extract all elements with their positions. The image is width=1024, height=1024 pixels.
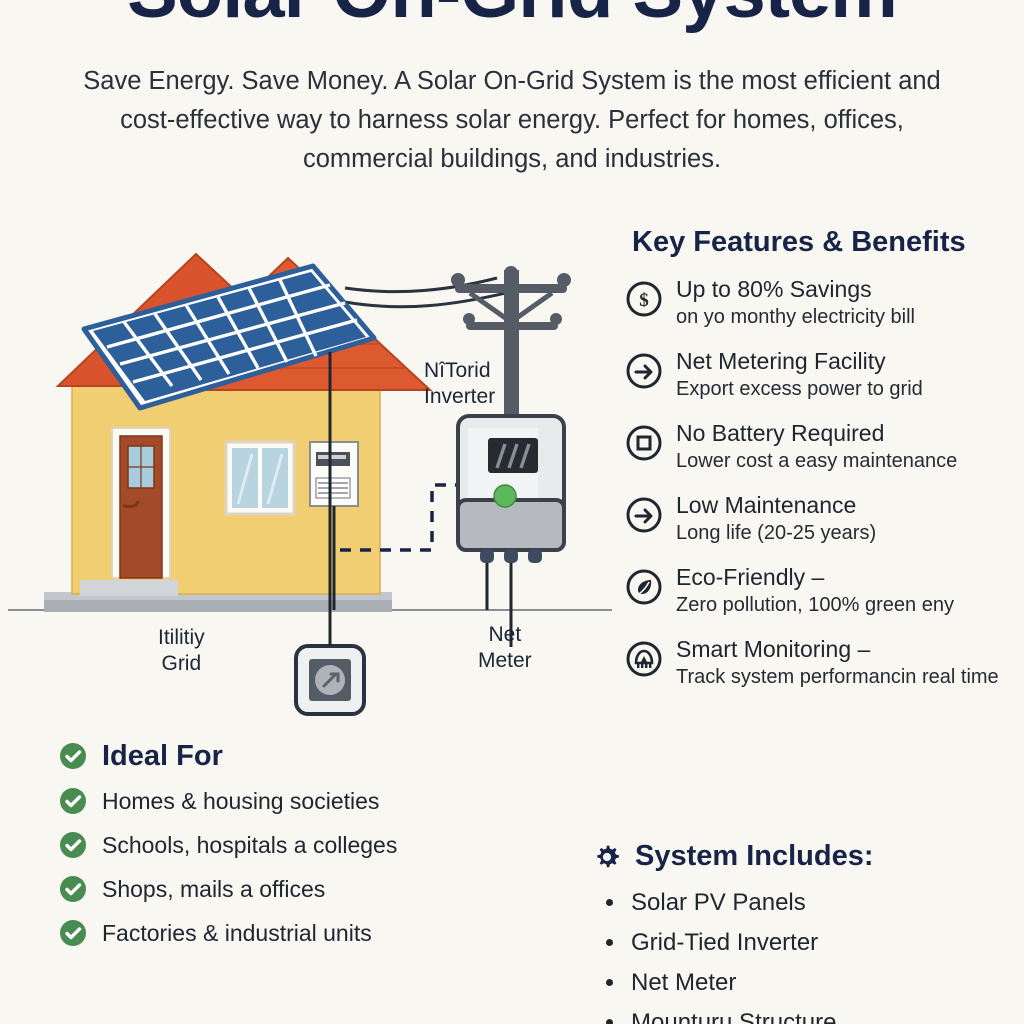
- infographic-page: Solar On-Grid System Save Energy. Save M…: [0, 0, 1024, 1024]
- feature-title: Low Maintenance: [676, 491, 1024, 519]
- ideal-for-section: Ideal For Homes & housing societies Scho…: [58, 740, 578, 962]
- list-item: Shops, mails a offices: [58, 874, 578, 904]
- bullet-icon: [606, 1019, 613, 1024]
- list-item: Solar PV Panels: [592, 886, 1022, 920]
- list-item: Grid-Tied Inverter: [592, 926, 1022, 960]
- system-includes-item-label: Mounturu Structure: [631, 1006, 836, 1024]
- diagram-label-inverter: NîTorid Inverter: [424, 358, 495, 410]
- feature-item: Low Maintenance Long life (20-25 years): [624, 491, 1024, 546]
- battery-square-circle-icon: [624, 423, 664, 463]
- feature-item: Smart Monitoring – Track system performa…: [624, 635, 1024, 690]
- feature-title: Net Metering Facility: [676, 347, 1024, 375]
- list-item: Mounturu Structure: [592, 1006, 1022, 1024]
- system-includes-item-label: Grid-Tied Inverter: [631, 926, 818, 960]
- gear-icon: [592, 842, 622, 872]
- feature-desc: Long life (20-25 years): [676, 520, 1024, 546]
- feature-title: Smart Monitoring –: [676, 635, 1024, 663]
- check-circle-icon: [58, 918, 88, 948]
- system-includes-section: System Includes: Solar PV Panels Grid-Ti…: [592, 840, 1022, 1024]
- house-meter-box-icon: [310, 442, 358, 506]
- ideal-for-heading-row: Ideal For: [58, 740, 578, 772]
- feature-desc: on yo monthy electricity bill: [676, 304, 1024, 330]
- ideal-for-item-label: Schools, hospitals a colleges: [102, 831, 397, 859]
- feature-desc: Lower cost a easy maintenance: [676, 448, 1024, 474]
- arrow-right-circle-icon: [624, 495, 664, 535]
- feature-item: $ Up to 80% Savings on yo monthy electri…: [624, 275, 1024, 330]
- page-subtitle: Save Energy. Save Money. A Solar On-Grid…: [70, 62, 954, 179]
- feature-title: No Battery Required: [676, 419, 1024, 447]
- system-includes-heading-row: System Includes:: [592, 840, 1022, 873]
- list-item: Schools, hospitals a colleges: [58, 830, 578, 860]
- svg-text:$: $: [639, 290, 649, 311]
- check-circle-icon: [58, 786, 88, 816]
- list-item: Factories & industrial units: [58, 918, 578, 948]
- page-title: Solar On-Grid System: [0, 0, 1024, 30]
- feature-desc: Export excess power to grid: [676, 376, 1024, 402]
- key-features-section: Key Features & Benefits $ Up to 80% Savi…: [624, 226, 1024, 707]
- feature-item: Net Metering Facility Export excess powe…: [624, 347, 1024, 402]
- ideal-for-item-label: Shops, mails a offices: [102, 875, 325, 903]
- list-item: Net Meter: [592, 966, 1022, 1000]
- arrow-right-circle-icon: [624, 351, 664, 391]
- monitoring-circle-icon: [624, 639, 664, 679]
- bullet-icon: [606, 939, 613, 946]
- feature-title: Up to 80% Savings: [676, 275, 1024, 303]
- system-includes-item-label: Solar PV Panels: [631, 886, 806, 920]
- grid-tied-inverter-icon: [458, 416, 564, 563]
- feature-desc: Zero pollution, 100% green eny: [676, 592, 1024, 618]
- check-circle-icon: [58, 830, 88, 860]
- feature-desc: Track system performancin real time: [676, 664, 1024, 690]
- feature-item: Eco-Friendly – Zero pollution, 100% gree…: [624, 563, 1024, 618]
- bullet-icon: [606, 979, 613, 986]
- ideal-for-item-label: Homes & housing societies: [102, 787, 379, 815]
- bullet-icon: [606, 899, 613, 906]
- list-item: Homes & housing societies: [58, 786, 578, 816]
- dollar-circle-icon: $: [624, 279, 664, 319]
- ideal-for-item-label: Factories & industrial units: [102, 919, 372, 947]
- check-circle-icon: [58, 741, 88, 771]
- system-includes-item-label: Net Meter: [631, 966, 736, 1000]
- system-includes-heading: System Includes:: [635, 840, 874, 873]
- diagram-label-net-meter: Net Meter: [478, 622, 532, 674]
- key-features-heading: Key Features & Benefits: [632, 226, 1024, 259]
- diagram-label-utility-grid: Itilitiy Grid: [158, 625, 205, 677]
- wall-socket-icon: [296, 610, 364, 714]
- feature-item: No Battery Required Lower cost a easy ma…: [624, 419, 1024, 474]
- leaf-circle-icon: [624, 567, 664, 607]
- check-circle-icon: [58, 874, 88, 904]
- feature-title: Eco-Friendly –: [676, 563, 1024, 591]
- ideal-for-heading: Ideal For: [102, 740, 223, 772]
